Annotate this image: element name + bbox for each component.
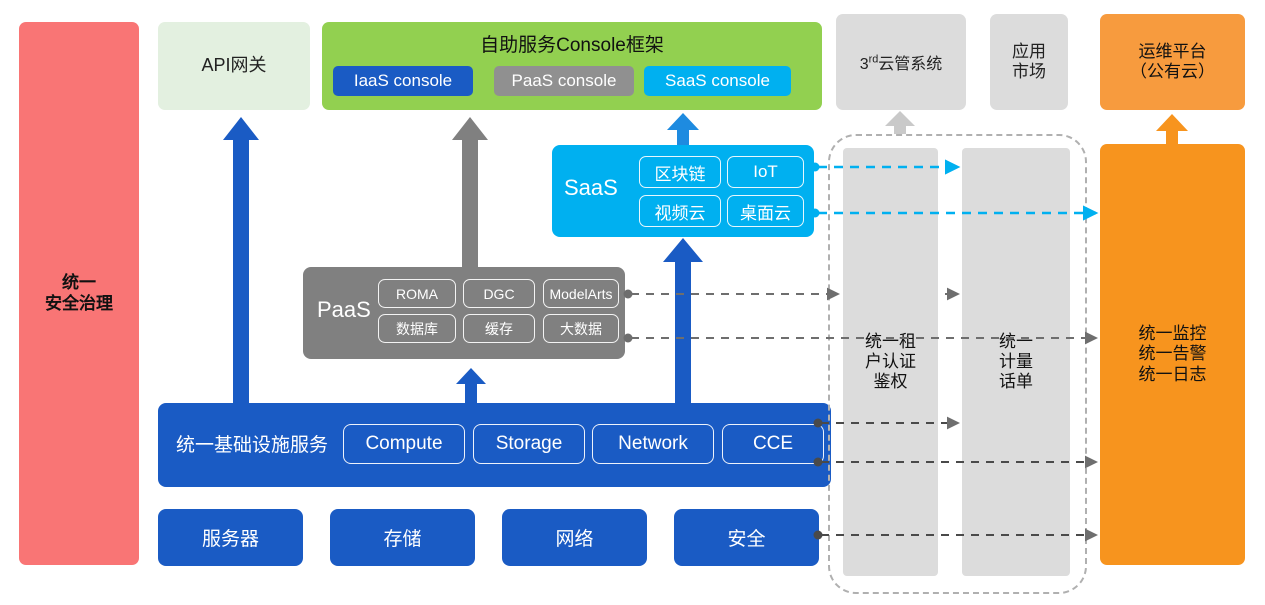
- infra-chip-compute[interactable]: Compute: [343, 424, 465, 464]
- third-party-label: 3rd云管系统: [860, 50, 943, 74]
- unified-infrastructure-service-bar: 统一基础设施服务 Compute Storage Network CCE: [158, 403, 831, 487]
- governance-label: 统一 安全治理: [45, 273, 113, 313]
- unified-security-governance-panel: 统一 安全治理: [19, 22, 139, 565]
- api-gateway-box: API网关: [158, 22, 310, 110]
- arrow-saas-to-saas-console: [667, 113, 699, 145]
- console-frame-title: 自助服务Console框架: [322, 30, 822, 57]
- infrastructure-title: 统一基础设施服务: [176, 430, 328, 457]
- api-gateway-label: API网关: [201, 55, 266, 76]
- arrow-infra-to-saas: [663, 238, 703, 403]
- paas-chip-dgc[interactable]: DGC: [463, 279, 535, 308]
- saas-chip-desktop-cloud[interactable]: 桌面云: [727, 195, 804, 227]
- ops-platform-label: 运维平台 （公有云）: [1130, 42, 1215, 82]
- unified-metering-billing-label: 统一 计量 话单: [999, 332, 1033, 392]
- arrow-infra-to-api-gateway: [223, 117, 259, 403]
- saas-chip-video-cloud[interactable]: 视频云: [639, 195, 721, 227]
- arrow-infra-to-paas: [456, 368, 486, 403]
- arrow-to-third-party-cloud: [885, 111, 915, 134]
- infra-chip-storage[interactable]: Storage: [473, 424, 585, 464]
- architecture-diagram: 统一 安全治理 API网关 自助服务Console框架 IaaS console…: [0, 0, 1265, 605]
- bottom-item-storage[interactable]: 存储: [330, 509, 475, 566]
- saas-layer-box: SaaS 区块链 IoT 视频云 桌面云: [552, 145, 814, 237]
- unified-monitoring-panel: 统一监控 统一告警 统一日志: [1100, 144, 1245, 565]
- ops-platform-public-cloud-box: 运维平台 （公有云）: [1100, 14, 1245, 110]
- unified-monitoring-label: 统一监控 统一告警 统一日志: [1139, 324, 1207, 384]
- app-market-box: 应用 市场: [990, 14, 1068, 110]
- saas-console-chip[interactable]: SaaS console: [644, 66, 791, 96]
- paas-title: PaaS: [317, 297, 371, 323]
- paas-chip-database[interactable]: 数据库: [378, 314, 456, 343]
- dashed-paas-to-tenant-auth: [624, 290, 839, 299]
- bottom-item-security[interactable]: 安全: [674, 509, 819, 566]
- infra-chip-network[interactable]: Network: [592, 424, 714, 464]
- bottom-item-network[interactable]: 网络: [502, 509, 647, 566]
- app-market-label: 应用 市场: [1012, 42, 1046, 82]
- unified-tenant-auth-label: 统一租 户认证 鉴权: [865, 332, 916, 392]
- paas-layer-box: PaaS ROMA DGC ModelArts 数据库 缓存 大数据: [303, 267, 625, 359]
- unified-tenant-auth-column: 统一租 户认证 鉴权: [843, 148, 938, 576]
- saas-chip-blockchain[interactable]: 区块链: [639, 156, 721, 188]
- paas-chip-cache[interactable]: 缓存: [463, 314, 535, 343]
- arrow-paas-to-console: [452, 117, 488, 267]
- paas-chip-bigdata[interactable]: 大数据: [543, 314, 619, 343]
- paas-console-chip[interactable]: PaaS console: [494, 66, 634, 96]
- iaas-console-chip[interactable]: IaaS console: [333, 66, 473, 96]
- third-party-cloud-mgmt-box: 3rd云管系统: [836, 14, 966, 110]
- self-service-console-frame: 自助服务Console框架 IaaS console PaaS console …: [322, 22, 822, 110]
- saas-chip-iot[interactable]: IoT: [727, 156, 804, 188]
- paas-chip-modelarts[interactable]: ModelArts: [543, 279, 619, 308]
- unified-metering-billing-column: 统一 计量 话单: [962, 148, 1070, 576]
- bottom-item-server[interactable]: 服务器: [158, 509, 303, 566]
- infra-chip-cce[interactable]: CCE: [722, 424, 824, 464]
- arrow-to-ops-platform: [1156, 114, 1188, 144]
- saas-title: SaaS: [564, 175, 618, 201]
- paas-chip-roma[interactable]: ROMA: [378, 279, 456, 308]
